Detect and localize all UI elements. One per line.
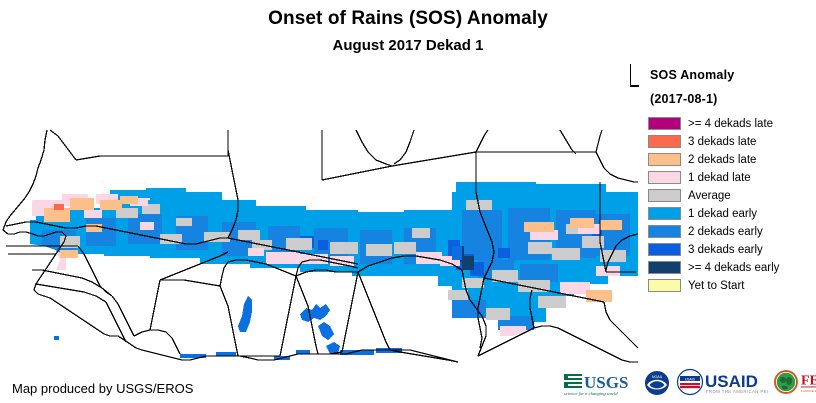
legend-swatch-3-early (648, 243, 681, 256)
map-credit: Map produced by USGS/EROS (12, 381, 193, 396)
legend-item-3-late[interactable]: 3 dekads late (648, 133, 816, 151)
anomaly-map[interactable] (0, 64, 638, 364)
fewsnet-logo[interactable]: FEWS NET FAMINE EARLY WARNING SYSTEMS NE… (773, 368, 816, 398)
map-page: Onset of Rains (SOS) Anomaly August 2017… (0, 0, 816, 403)
legend-item-2-early[interactable]: 2 dekads early (648, 223, 816, 241)
legend-item-yet-to-start[interactable]: Yet to Start (648, 277, 816, 295)
legend-swatch-2-late (648, 153, 681, 166)
page-title: Onset of Rains (SOS) Anomaly (0, 8, 816, 30)
legend-swatch-2-early (648, 225, 681, 238)
noaa-logo[interactable]: NOAA (643, 369, 671, 397)
map-frame-corner-rule (630, 85, 639, 87)
usaid-seal-text: USAID (685, 377, 695, 381)
legend-swatch-average (648, 189, 681, 202)
usaid-logo-tagline: FROM THE AMERICAN PEOPLE (706, 389, 768, 394)
legend-swatch-yet-to-start (648, 279, 681, 292)
legend-label-average: Average (688, 190, 731, 202)
legend-label-3-late: 3 dekads late (688, 136, 756, 148)
legend-label-2-early: 2 dekads early (688, 226, 763, 238)
legend-item-ge4-late[interactable]: >= 4 dekads late (648, 115, 816, 133)
legend-label-3-early: 3 dekads early (688, 244, 763, 256)
map-svg (0, 64, 638, 364)
legend-item-1-early[interactable]: 1 dekad early (648, 205, 816, 223)
legend-swatch-3-late (648, 135, 681, 148)
legend-item-ge4-early[interactable]: >= 4 dekads early (648, 259, 816, 277)
usgs-logo-tagline: science for a changing world (564, 391, 618, 396)
legend-label-ge4-early: >= 4 dekads early (688, 262, 779, 274)
fewsnet-logo-tagline: FAMINE EARLY WARNING SYSTEMS NETWORK (801, 389, 816, 393)
legend-item-2-late[interactable]: 2 dekads late (648, 151, 816, 169)
legend-item-1-late[interactable]: 1 dekad late (648, 169, 816, 187)
legend-item-3-early[interactable]: 3 dekads early (648, 241, 816, 259)
legend-title: SOS Anomaly (650, 68, 816, 82)
noaa-logo-text: NOAA (652, 375, 663, 379)
fewsnet-logo-text: FEWS NET (801, 374, 816, 389)
legend-swatch-ge4-late (648, 117, 681, 130)
legend-swatch-ge4-early (648, 261, 681, 274)
usgs-logo-text: USGS (584, 373, 628, 392)
legend-swatch-1-early (648, 207, 681, 220)
legend-label-1-early: 1 dekad early (688, 208, 757, 220)
legend-label-ge4-late: >= 4 dekads late (688, 118, 773, 130)
legend-item-average[interactable]: Average (648, 187, 816, 205)
map-frame-corner (630, 64, 640, 86)
usgs-logo[interactable]: USGS science for a changing world (562, 369, 638, 397)
legend-panel: SOS Anomaly (2017-08-1) >= 4 dekads late… (648, 68, 816, 295)
legend-date: (2017-08-1) (650, 92, 816, 106)
legend-swatch-1-late (648, 171, 681, 184)
legend-label-2-late: 2 dekads late (688, 154, 756, 166)
legend-label-1-late: 1 dekad late (688, 172, 751, 184)
page-subtitle: August 2017 Dekad 1 (0, 37, 816, 54)
usaid-logo[interactable]: USAID USAID FROM THE AMERICAN PEOPLE (676, 368, 768, 398)
agency-logos: USGS science for a changing world NOAA U… (562, 366, 816, 400)
legend-label-yet-to-start: Yet to Start (688, 280, 744, 292)
